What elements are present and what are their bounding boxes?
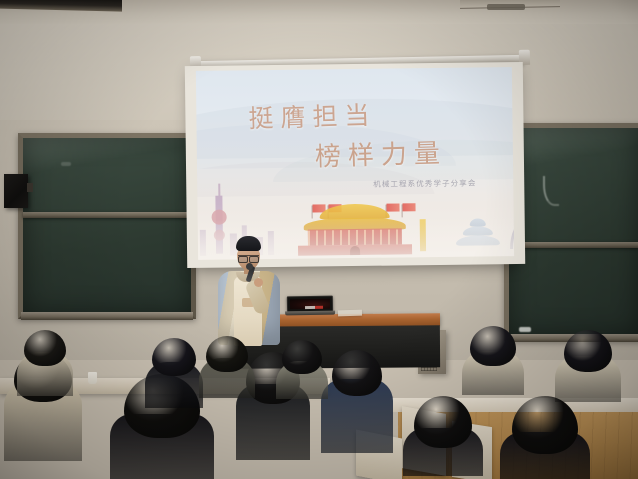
audience-head-7 — [206, 336, 248, 372]
projection-screen: 挺膺担当 榜样力量 机械工程系优秀学子分享会 — [191, 64, 519, 264]
laptop-screen-content — [305, 306, 323, 310]
slide-title-line-2: 榜样力量 — [314, 133, 447, 174]
chalk-stick-icon — [519, 327, 531, 332]
audience-head-4 — [332, 350, 382, 396]
beanie-hat — [236, 236, 261, 251]
audience-head-11 — [512, 396, 578, 454]
audience-head-9 — [470, 326, 516, 366]
laptop — [287, 296, 333, 317]
laptop-screen — [290, 299, 330, 310]
audience-head-12 — [414, 396, 472, 448]
audience-head-6 — [24, 330, 66, 366]
audience-head-8 — [282, 340, 322, 374]
lecture-hall-photo: 挺膺担当 榜样力量 机械工程系优秀学子分享会 — [0, 0, 638, 479]
wall-speaker-left — [4, 174, 28, 208]
projector-lens-icon — [487, 4, 525, 10]
chalk-mark — [543, 176, 559, 206]
chalk-mark — [61, 162, 71, 166]
glasses-icon — [238, 255, 259, 260]
paper-cup — [88, 372, 97, 384]
slide-title-line-1: 挺膺担当 — [248, 96, 377, 136]
blackboard-divider-rail — [509, 242, 638, 248]
audience-head-10 — [564, 330, 612, 372]
audience-head-5 — [152, 338, 196, 376]
presentation-slide: 挺膺担当 榜样力量 机械工程系优秀学子分享会 — [196, 67, 514, 260]
presenter-hand — [254, 278, 263, 287]
microphone-capsule — [246, 263, 253, 270]
blackboard-divider-rail — [23, 212, 191, 218]
chalk-tray — [21, 312, 193, 320]
papers-on-lectern — [338, 310, 362, 317]
laptop-keyboard-base — [285, 311, 335, 316]
blackboard-left — [18, 133, 196, 319]
